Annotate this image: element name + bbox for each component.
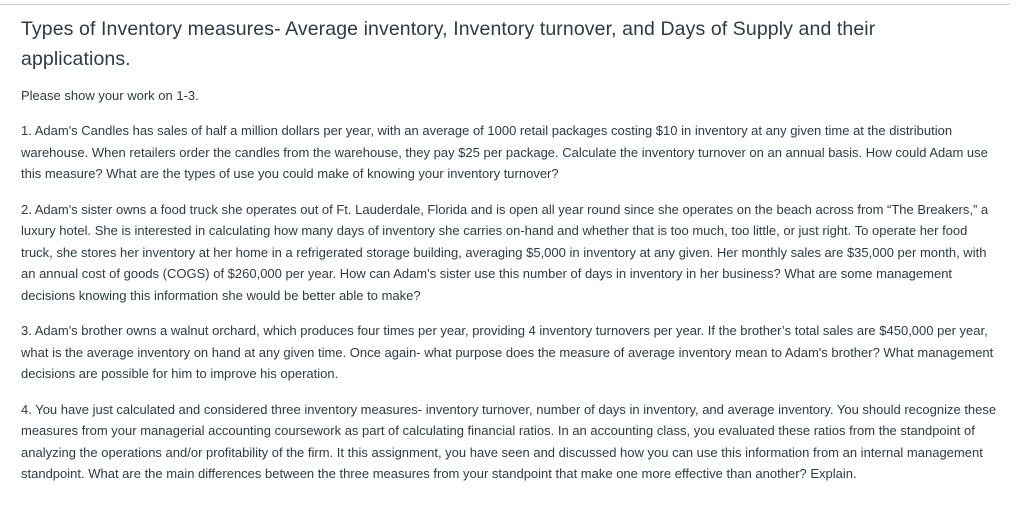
instruction-text: Please show your work on 1-3. <box>21 86 1002 106</box>
question-item-1: 1. Adam's Candles has sales of half a mi… <box>21 120 1002 185</box>
question-item-2: 2. Adam's sister owns a food truck she o… <box>21 199 1002 307</box>
assignment-page: Types of Inventory measures- Average inv… <box>0 0 1024 518</box>
question-item-3: 3. Adam's brother owns a walnut orchard,… <box>21 320 1002 385</box>
assignment-content: Types of Inventory measures- Average inv… <box>0 0 1024 485</box>
question-list: 1. Adam's Candles has sales of half a mi… <box>21 120 1002 485</box>
question-item-4: 4. You have just calculated and consider… <box>21 399 1002 485</box>
page-title: Types of Inventory measures- Average inv… <box>21 14 981 74</box>
